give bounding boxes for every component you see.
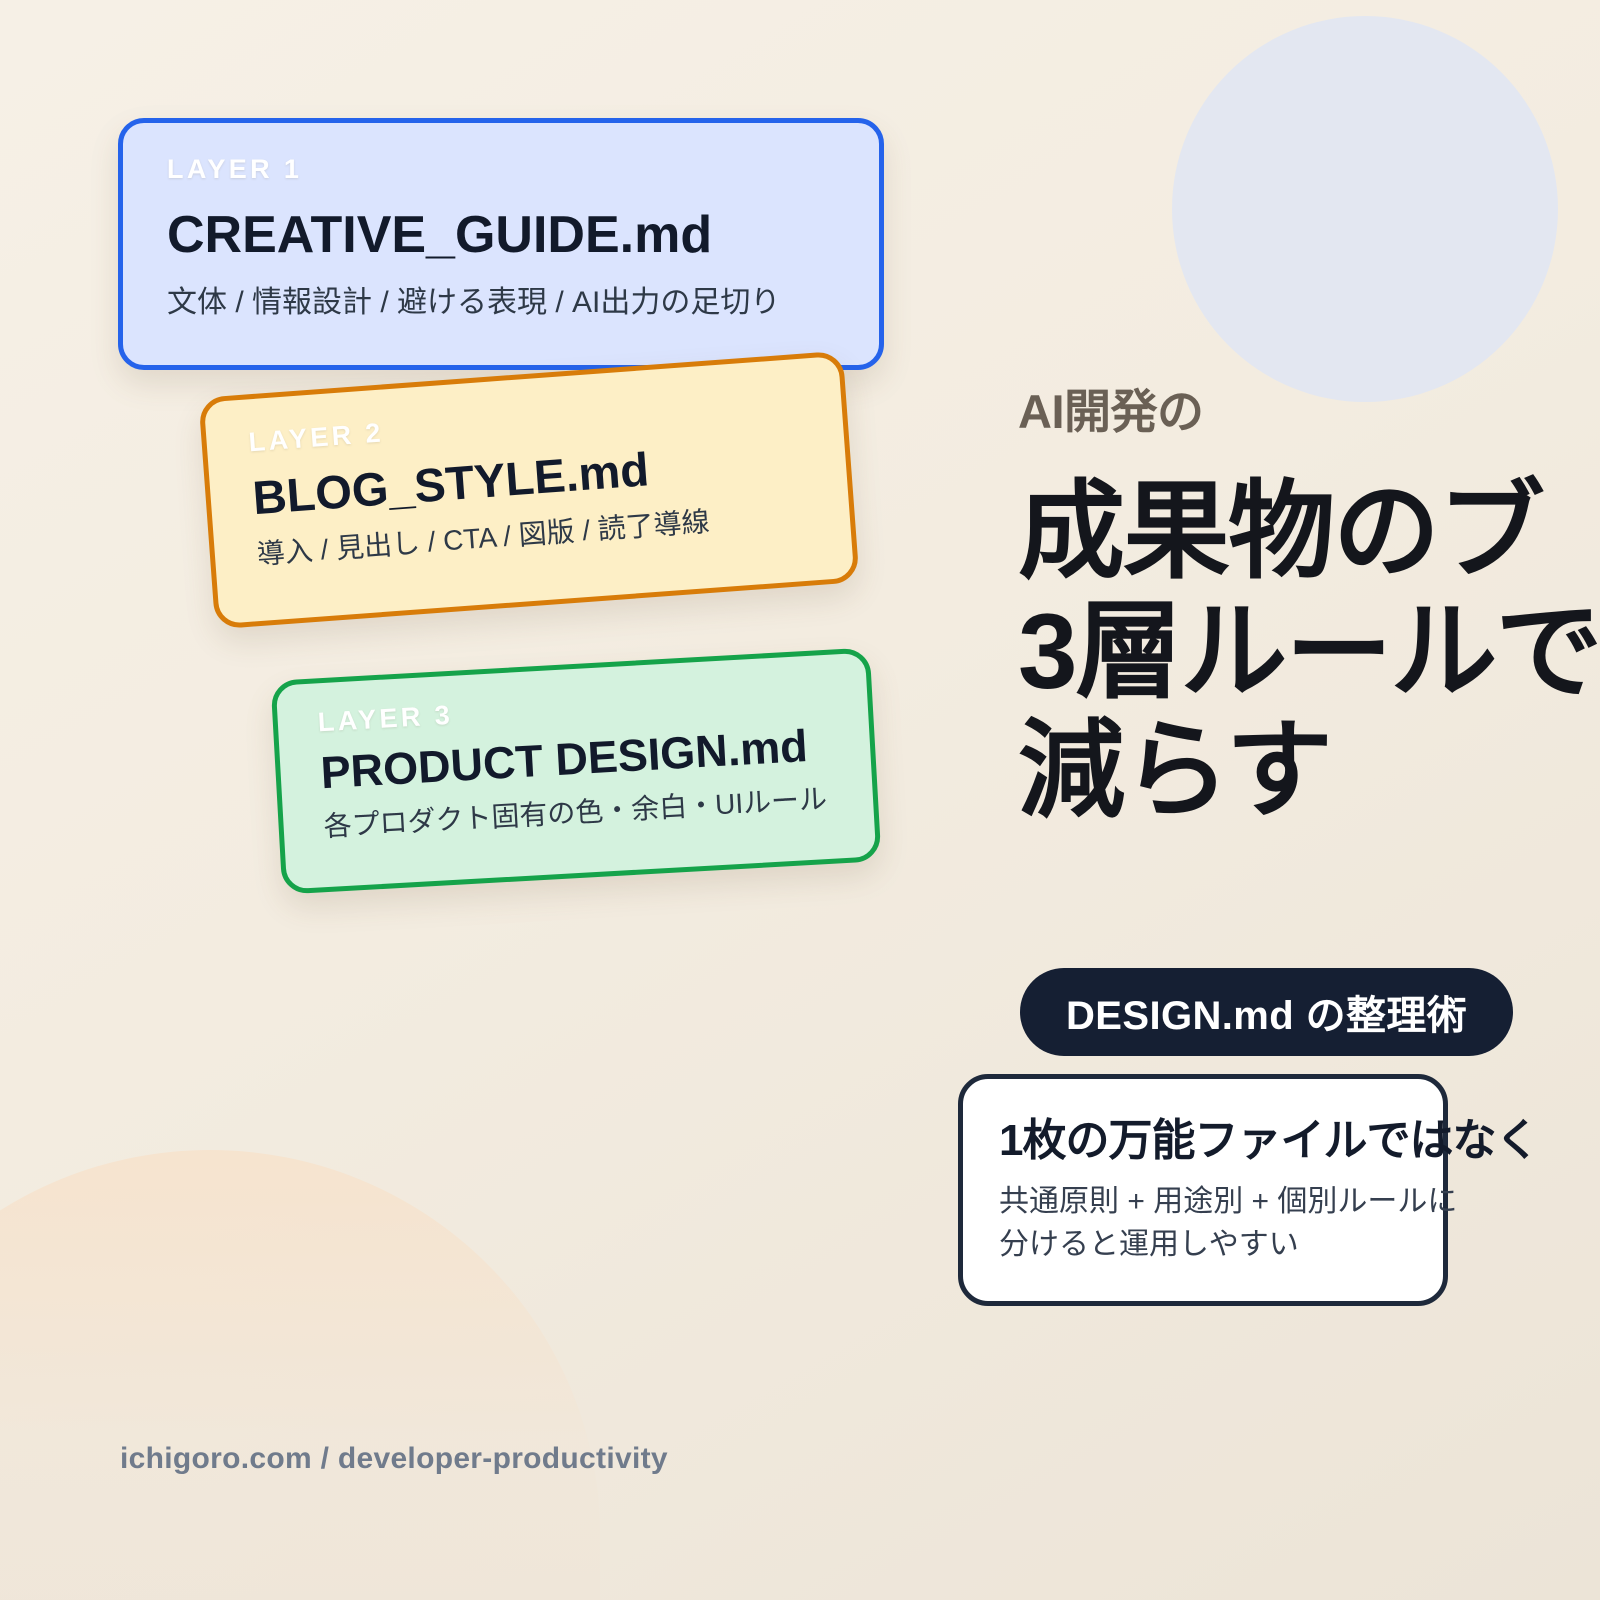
page-title: 成果物のブ 3層ルールで 減らす bbox=[1018, 472, 1600, 831]
footer-source: ichigoro.com / developer-productivity bbox=[120, 1442, 668, 1476]
eyebrow-text: AI開発の bbox=[1018, 386, 1600, 438]
decorative-circle bbox=[1172, 16, 1558, 402]
infographic-canvas: LAYER 1 CREATIVE_GUIDE.md 文体 / 情報設計 / 避け… bbox=[0, 0, 1600, 1600]
layer-card-3: LAYER 3 PRODUCT DESIGN.md 各プロダクト固有の色・余白・… bbox=[270, 647, 881, 894]
headline-line-2: 3層ルールで bbox=[1018, 592, 1600, 712]
card-description-1: 文体 / 情報設計 / 避ける表現 / AI出力の足切り bbox=[167, 284, 879, 322]
status-badge: DESIGN.md の整理術 bbox=[1020, 968, 1513, 1056]
info-body-line-2: 分けると運用しやすい bbox=[999, 1224, 1443, 1267]
layer-tag-1: LAYER 1 bbox=[167, 156, 879, 183]
layer-card-1: LAYER 1 CREATIVE_GUIDE.md 文体 / 情報設計 / 避け… bbox=[118, 118, 884, 370]
info-card-body: 共通原則 + 用途別 + 個別ルールに 分けると運用しやすい bbox=[999, 1181, 1443, 1266]
badge-label: DESIGN.md の整理術 bbox=[1066, 983, 1467, 1041]
layer-card-2: LAYER 2 BLOG_STYLE.md 導入 / 見出し / CTA / 図… bbox=[198, 351, 859, 630]
headline-line-1: 成果物のブ bbox=[1018, 472, 1600, 592]
info-card-title: 1枚の万能ファイルではなく bbox=[999, 1117, 1443, 1165]
headline-block: AI開発の 成果物のブ 3層ルールで 減らす bbox=[1018, 386, 1600, 831]
info-card: 1枚の万能ファイルではなく 共通原則 + 用途別 + 個別ルールに 分けると運用… bbox=[958, 1074, 1448, 1306]
file-name-1: CREATIVE_GUIDE.md bbox=[167, 208, 879, 262]
info-body-line-1: 共通原則 + 用途別 + 個別ルールに bbox=[999, 1181, 1443, 1224]
decorative-blob bbox=[0, 1150, 600, 1600]
headline-line-3: 減らす bbox=[1018, 711, 1600, 831]
